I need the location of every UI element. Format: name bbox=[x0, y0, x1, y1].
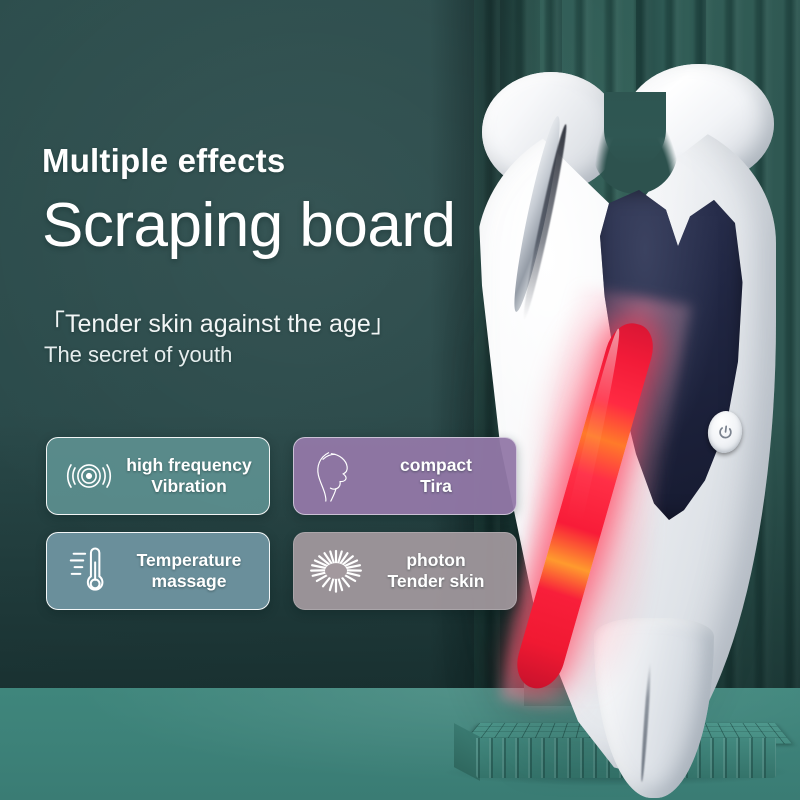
feature-label-line1: high frequency bbox=[126, 455, 251, 475]
product-advertisement-banner: Multiple effects Scraping board 「Tender … bbox=[0, 0, 800, 800]
product-v-notch-inner bbox=[604, 92, 666, 166]
subtitle-secondary: The secret of youth bbox=[44, 342, 232, 368]
feature-badge-compact-tira[interactable]: compact Tira bbox=[293, 437, 517, 515]
feature-badge-label: photon Tender skin bbox=[366, 550, 506, 592]
headline-title: Scraping board bbox=[42, 190, 456, 261]
feature-label-line2: Tira bbox=[420, 476, 452, 496]
feature-label-line2: Tender skin bbox=[388, 571, 485, 591]
feature-label-line1: photon bbox=[406, 550, 465, 570]
feature-label-line1: Temperature bbox=[137, 550, 242, 570]
thermometer-icon bbox=[59, 547, 119, 595]
vibration-waves-icon bbox=[59, 453, 119, 499]
feature-label-line1: compact bbox=[400, 455, 472, 475]
feature-label-line2: Vibration bbox=[151, 476, 227, 496]
feature-label-line2: massage bbox=[152, 571, 227, 591]
feature-badge-label: high frequency Vibration bbox=[119, 455, 259, 497]
product-body bbox=[476, 62, 776, 762]
feature-badge-label: Temperature massage bbox=[119, 550, 259, 592]
feature-badge-photon-tender-skin[interactable]: photon Tender skin bbox=[293, 532, 517, 610]
power-icon bbox=[716, 423, 735, 442]
feature-badge-temperature-massage[interactable]: Temperature massage bbox=[46, 532, 270, 610]
feature-badge-high-frequency-vibration[interactable]: high frequency Vibration bbox=[46, 437, 270, 515]
photon-burst-icon bbox=[306, 549, 366, 593]
face-profile-icon bbox=[306, 450, 366, 502]
product-image-gua-sha-device bbox=[430, 40, 800, 770]
kicker-text: Multiple effects bbox=[42, 142, 285, 180]
feature-badge-label: compact Tira bbox=[366, 455, 506, 497]
subtitle-quoted: 「Tender skin against the age」 bbox=[40, 304, 396, 340]
